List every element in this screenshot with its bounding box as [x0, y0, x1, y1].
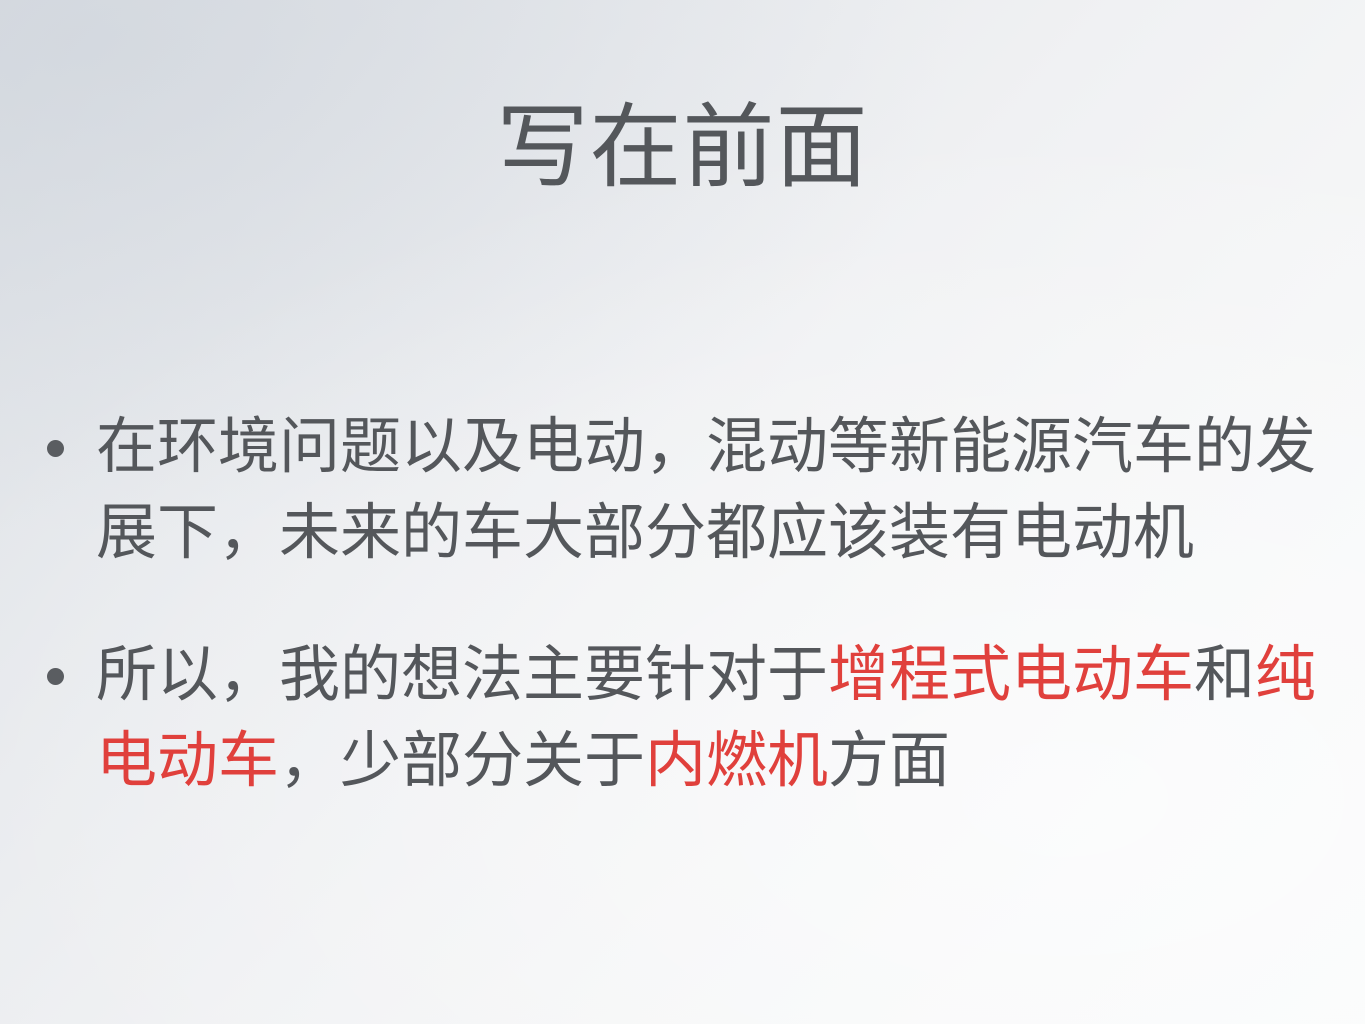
- list-item: 所以，我的想法主要针对于增程式电动车和纯电动车，少部分关于内燃机方面: [28, 632, 1348, 804]
- slide-content: 写在前面 在环境问题以及电动，混动等新能源汽车的发展下，未来的车大部分都应该装有…: [0, 0, 1365, 1024]
- list-item-text: 在环境问题以及电动，混动等新能源汽车的发展下，未来的车大部分都应该装有电动机: [96, 404, 1348, 576]
- list-item-text: 所以，我的想法主要针对于增程式电动车和纯电动车，少部分关于内燃机方面: [96, 632, 1348, 804]
- highlighted-term: 增程式电动车: [828, 639, 1194, 710]
- text-segment: 方面: [828, 725, 950, 796]
- bullet-dot-icon: [47, 668, 64, 685]
- text-segment: 在环境问题以及电动，混动等新能源汽车的发展下，未来的车大部分都应该装有电动机: [96, 411, 1316, 568]
- page-title: 写在前面: [0, 96, 1365, 199]
- bullet-dot-icon: [47, 440, 64, 457]
- list-item: 在环境问题以及电动，混动等新能源汽车的发展下，未来的车大部分都应该装有电动机: [28, 404, 1348, 576]
- presentation-slide: 写在前面 在环境问题以及电动，混动等新能源汽车的发展下，未来的车大部分都应该装有…: [0, 0, 1365, 1024]
- text-segment: ，少部分关于: [279, 725, 645, 796]
- text-segment: 所以，我的想法主要针对于: [96, 639, 828, 710]
- text-segment: 和: [1194, 639, 1255, 710]
- bullet-list: 在环境问题以及电动，混动等新能源汽车的发展下，未来的车大部分都应该装有电动机 所…: [28, 404, 1348, 804]
- highlighted-term: 内燃机: [645, 725, 828, 796]
